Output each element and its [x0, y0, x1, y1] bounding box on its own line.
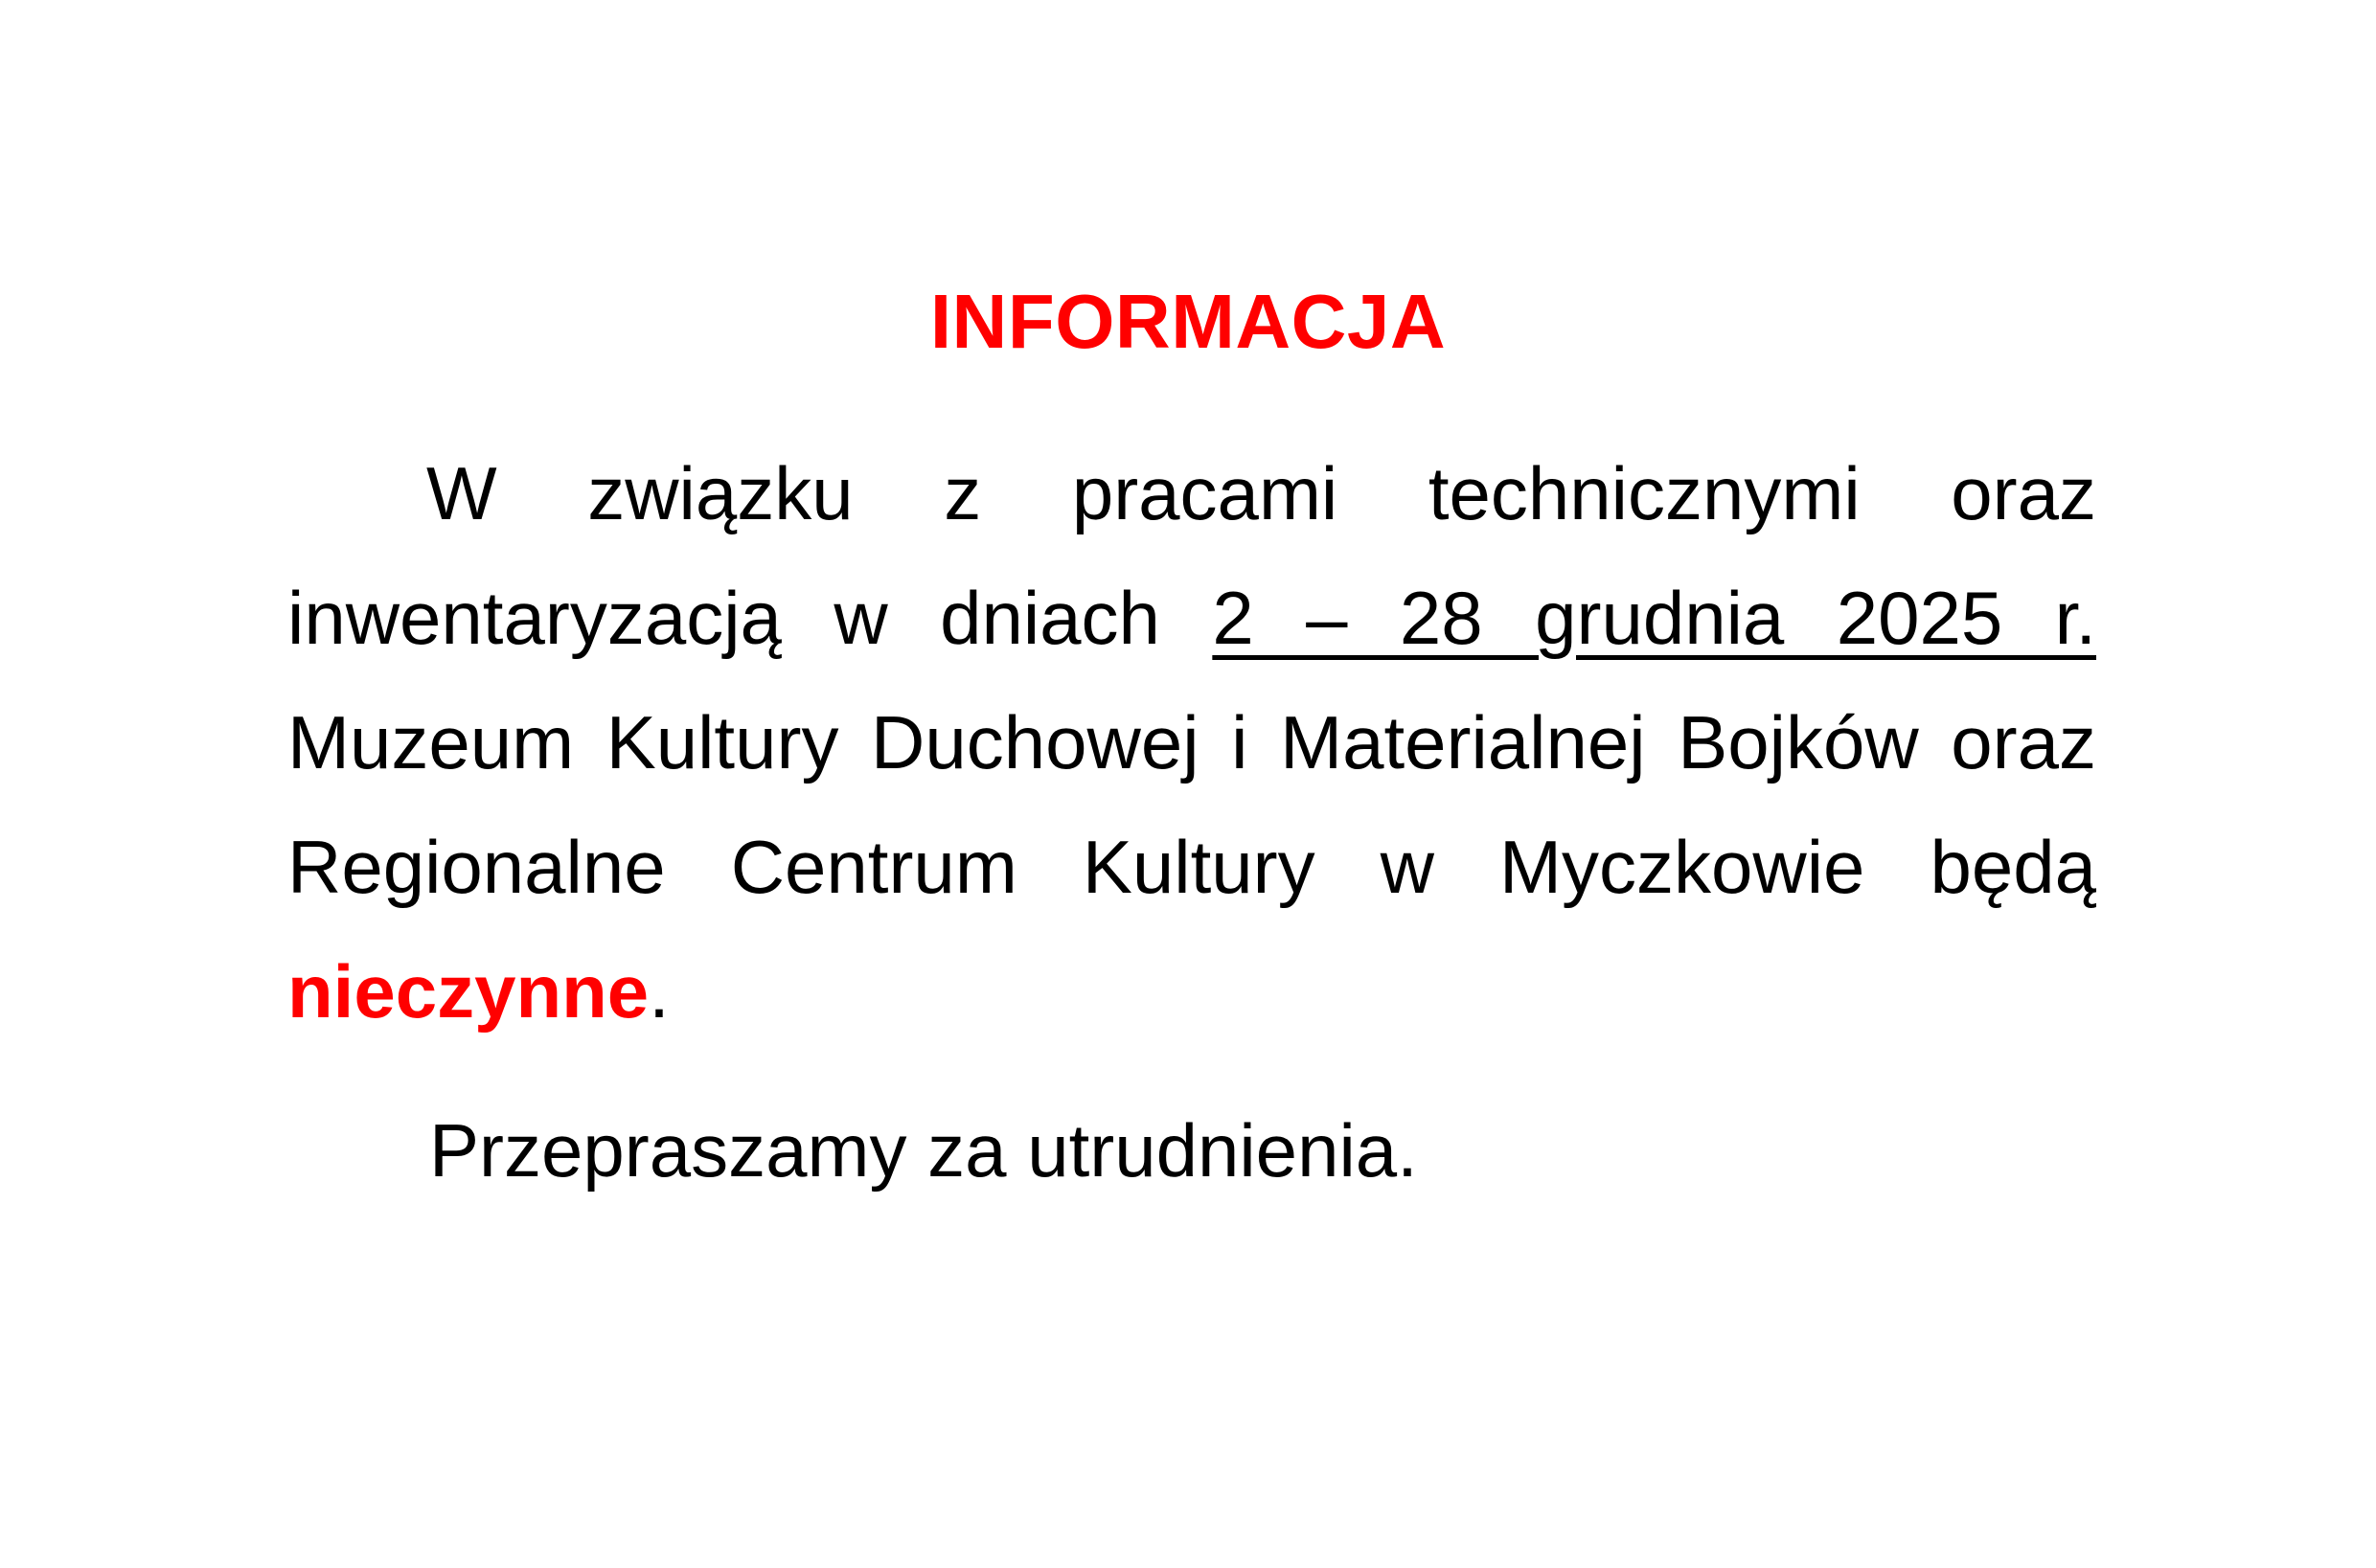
page-title: INFORMACJA: [0, 284, 2376, 360]
closure-date-range: 2 – 28 grudnia 2025 r.: [1212, 576, 2096, 660]
notice-page: INFORMACJA W związku z pracami techniczn…: [0, 0, 2376, 1568]
closed-status-word: nieczynne: [287, 949, 649, 1034]
notice-text-segment-2: Muzeum Kultury Duchowej i Materialnej Bo…: [287, 700, 2096, 909]
notice-paragraph-main: W związku z pracami technicznymi oraz in…: [287, 431, 2096, 1054]
notice-paragraph-apology: Przepraszamy za utrudnienia.: [287, 1088, 2096, 1213]
notice-text-segment-3: .: [649, 949, 670, 1034]
notice-body: W związku z pracami technicznymi oraz in…: [287, 431, 2096, 1213]
